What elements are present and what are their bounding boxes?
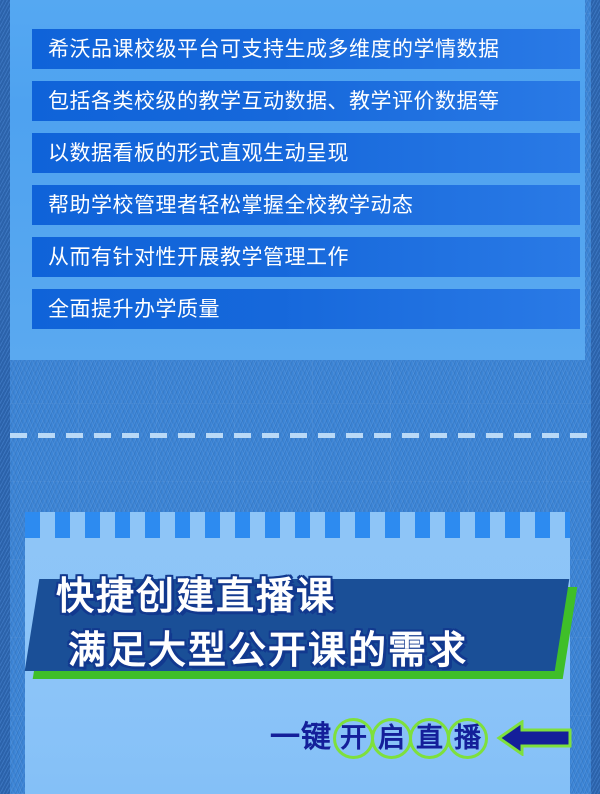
bullet-bar: 帮助学校管理者轻松掌握全校教学动态 [32, 185, 580, 225]
left-edge-strip [0, 0, 10, 794]
cta-chip-3[interactable]: 直 [409, 718, 450, 759]
poster-root: 希沃品课校级平台可支持生成多维度的学情数据 包括各类校级的教学互动数据、教学评价… [0, 0, 600, 794]
bullet-bar-label: 帮助学校管理者轻松掌握全校教学动态 [48, 195, 414, 216]
bullet-bar: 包括各类校级的教学互动数据、教学评价数据等 [32, 81, 580, 121]
bullet-bar: 希沃品课校级平台可支持生成多维度的学情数据 [32, 29, 580, 69]
bullet-bar-list: 希沃品课校级平台可支持生成多维度的学情数据 包括各类校级的教学互动数据、教学评价… [32, 29, 580, 341]
dashed-divider [10, 433, 591, 438]
headline-text: 快捷创建直播课 满足大型公开课的需求 [56, 569, 576, 677]
right-edge-strip [591, 0, 600, 794]
bullet-bar: 全面提升办学质量 [32, 289, 580, 329]
headline-block: 快捷创建直播课 满足大型公开课的需求 [26, 573, 576, 683]
headline-line-2: 满足大型公开课的需求 [68, 623, 576, 677]
stripe-band [25, 512, 570, 538]
bullet-bar-label: 希沃品课校级平台可支持生成多维度的学情数据 [48, 39, 500, 60]
bullet-bar-label: 从而有针对性开展教学管理工作 [48, 247, 349, 268]
cta-prefix-label: 一键 [270, 723, 332, 753]
cta-chip-1[interactable]: 开 [333, 718, 374, 759]
cta-chip-2[interactable]: 启 [371, 718, 412, 759]
cta-chip-4[interactable]: 播 [447, 718, 488, 759]
bullet-bar: 从而有针对性开展教学管理工作 [32, 237, 580, 277]
bullet-bar-label: 全面提升办学质量 [48, 299, 220, 320]
arrow-left-icon [496, 720, 572, 756]
top-panel: 希沃品课校级平台可支持生成多维度的学情数据 包括各类校级的教学互动数据、教学评价… [10, 0, 585, 360]
bullet-bar: 以数据看板的形式直观生动呈现 [32, 133, 580, 173]
bullet-bar-label: 包括各类校级的教学互动数据、教学评价数据等 [48, 91, 500, 112]
bullet-bar-label: 以数据看板的形式直观生动呈现 [48, 143, 349, 164]
headline-line-1: 快捷创建直播课 [56, 569, 576, 623]
cta-row[interactable]: 一键 开 启 直 播 [270, 714, 572, 762]
